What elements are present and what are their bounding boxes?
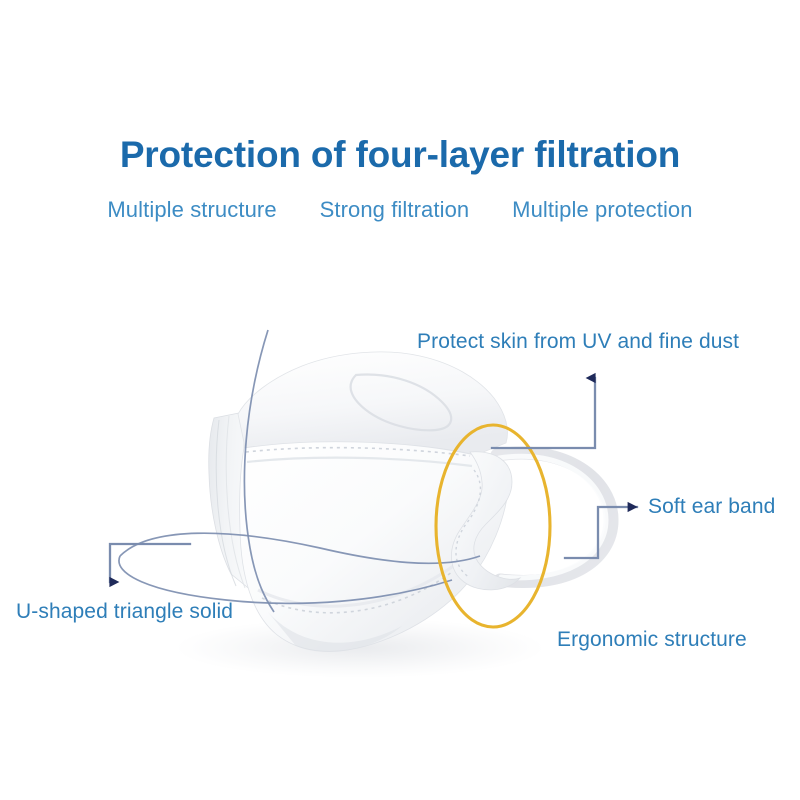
callout-label-u-shaped-triangle-solid: U-shaped triangle solid: [16, 600, 233, 624]
leader-ushape: [110, 544, 190, 582]
subtitle-strong-filtration: Strong filtration: [320, 197, 470, 222]
seam-lower: [262, 572, 452, 613]
page-title: Protection of four-layer filtration: [0, 134, 800, 176]
guide-curves: [119, 330, 480, 612]
ear-joint-panel: [451, 452, 520, 590]
callout-label-uv: Protect skin from UV and fine dust: [417, 330, 739, 354]
ear-loop: [497, 453, 612, 581]
mask-nose-panel: [238, 352, 508, 455]
callout-label-ear-band: Soft ear band: [648, 495, 775, 519]
leader-lines: [110, 378, 637, 582]
leader-uv: [492, 378, 595, 448]
callout-label-ergonomic-structure: Ergonomic structure: [557, 628, 747, 652]
mask-diagram-svg: [0, 0, 800, 800]
mask-body: [209, 352, 520, 652]
subtitle-multiple-structure: Multiple structure: [107, 197, 276, 222]
illustration-canvas: Protection of four-layer filtration Mult…: [0, 0, 800, 800]
subtitle-multiple-protection: Multiple protection: [512, 197, 692, 222]
mask-side-panel: [209, 412, 263, 600]
nose-fold: [351, 375, 452, 431]
mask-front-panel: [240, 442, 509, 652]
subtitle-row: Multiple structure Strong filtration Mul…: [0, 197, 800, 223]
leader-earband: [565, 507, 637, 558]
seam-upper: [246, 448, 470, 456]
mask-shadow: [175, 618, 545, 678]
highlight-ellipse: [436, 425, 550, 627]
